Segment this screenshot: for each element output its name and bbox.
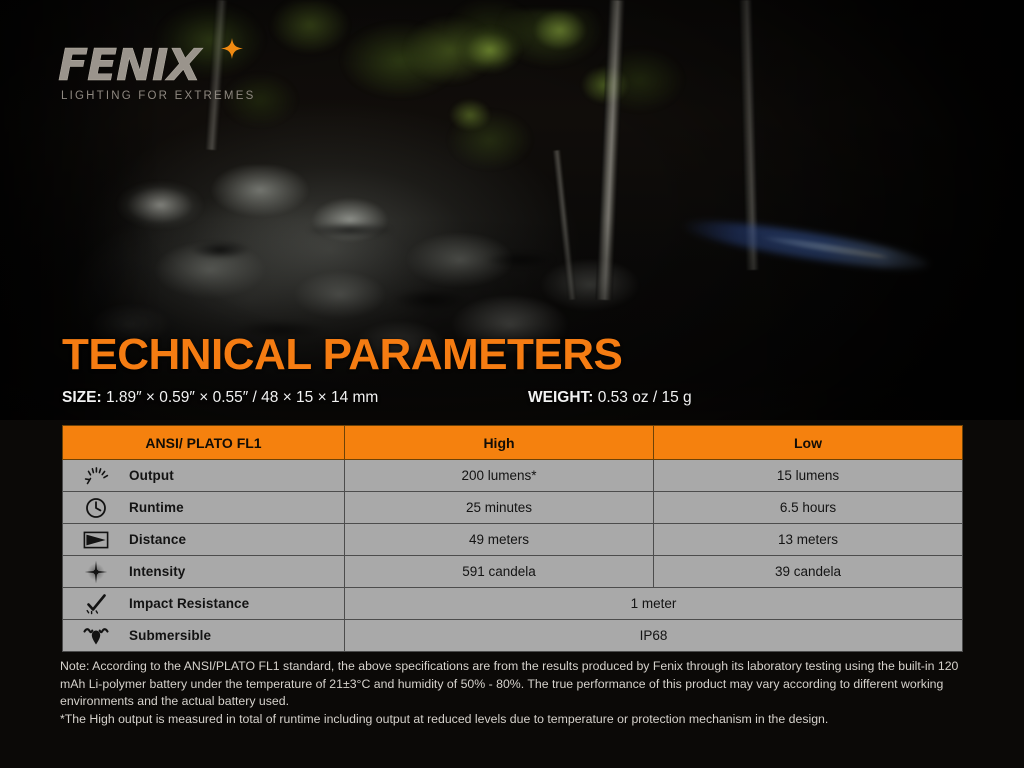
water-droplet-icon — [63, 625, 129, 647]
cell-high: 49 meters — [345, 524, 654, 556]
cell-span-value: 1 meter — [345, 588, 963, 620]
weight-label: WEIGHT: — [528, 389, 593, 406]
light-rays-icon — [63, 466, 129, 486]
table-row: Output 200 lumens* 15 lumens — [63, 460, 963, 492]
row-label-cell: Output — [63, 460, 345, 492]
page-title: TECHNICAL PARAMETERS — [62, 330, 622, 380]
fenix-logo: FENIX LIGHTING FOR EXTREMES — [58, 44, 258, 104]
impact-drop-icon — [63, 593, 129, 615]
header-standard: ANSI/ PLATO FL1 — [63, 426, 345, 460]
row-label-cell: Submersible — [63, 620, 345, 652]
row-label: Impact Resistance — [129, 596, 249, 611]
table-row: Distance 49 meters 13 meters — [63, 524, 963, 556]
cell-high: 25 minutes — [345, 492, 654, 524]
table-row: Submersible IP68 — [63, 620, 963, 652]
header-low: Low — [654, 426, 963, 460]
product-spec-page: FENIX LIGHTING FOR EXTREMES TECHNICAL PA… — [0, 0, 1024, 768]
technical-parameters-table: ANSI/ PLATO FL1 High Low — [62, 425, 963, 652]
cell-high: 200 lumens* — [345, 460, 654, 492]
cell-span-value: IP68 — [345, 620, 963, 652]
row-label-cell: Distance — [63, 524, 345, 556]
beam-distance-icon — [63, 531, 129, 549]
footnote-line-2: *The High output is measured in total of… — [60, 711, 966, 729]
cell-low: 15 lumens — [654, 460, 963, 492]
row-label: Distance — [129, 532, 186, 547]
size-spec: SIZE: 1.89″ × 0.59″ × 0.55″ / 48 × 15 × … — [62, 389, 378, 407]
header-high: High — [345, 426, 654, 460]
row-label: Output — [129, 468, 174, 483]
footnote-block: Note: According to the ANSI/PLATO FL1 st… — [60, 658, 966, 728]
footnote-line-1: Note: According to the ANSI/PLATO FL1 st… — [60, 658, 966, 711]
row-label-cell: Runtime — [63, 492, 345, 524]
brand-tagline: LIGHTING FOR EXTREMES — [61, 90, 258, 102]
row-label-cell: Impact Resistance — [63, 588, 345, 620]
weight-spec: WEIGHT: 0.53 oz / 15 g — [528, 389, 692, 407]
row-label: Intensity — [129, 564, 185, 579]
cell-high: 591 candela — [345, 556, 654, 588]
star-icon — [220, 38, 244, 62]
size-label: SIZE: — [62, 389, 102, 406]
table-header-row: ANSI/ PLATO FL1 High Low — [63, 426, 963, 460]
row-label-cell: Intensity — [63, 556, 345, 588]
cell-low: 13 meters — [654, 524, 963, 556]
row-label: Submersible — [129, 628, 211, 643]
table-row: Intensity 591 candela 39 candela — [63, 556, 963, 588]
clock-icon — [63, 497, 129, 519]
size-value: 1.89″ × 0.59″ × 0.55″ / 48 × 15 × 14 mm — [106, 389, 378, 406]
table-row: Runtime 25 minutes 6.5 hours — [63, 492, 963, 524]
row-label: Runtime — [129, 500, 184, 515]
table-row: Impact Resistance 1 meter — [63, 588, 963, 620]
crosshair-intensity-icon — [63, 560, 129, 584]
weight-value: 0.53 oz / 15 g — [598, 389, 692, 406]
cell-low: 39 candela — [654, 556, 963, 588]
cell-low: 6.5 hours — [654, 492, 963, 524]
